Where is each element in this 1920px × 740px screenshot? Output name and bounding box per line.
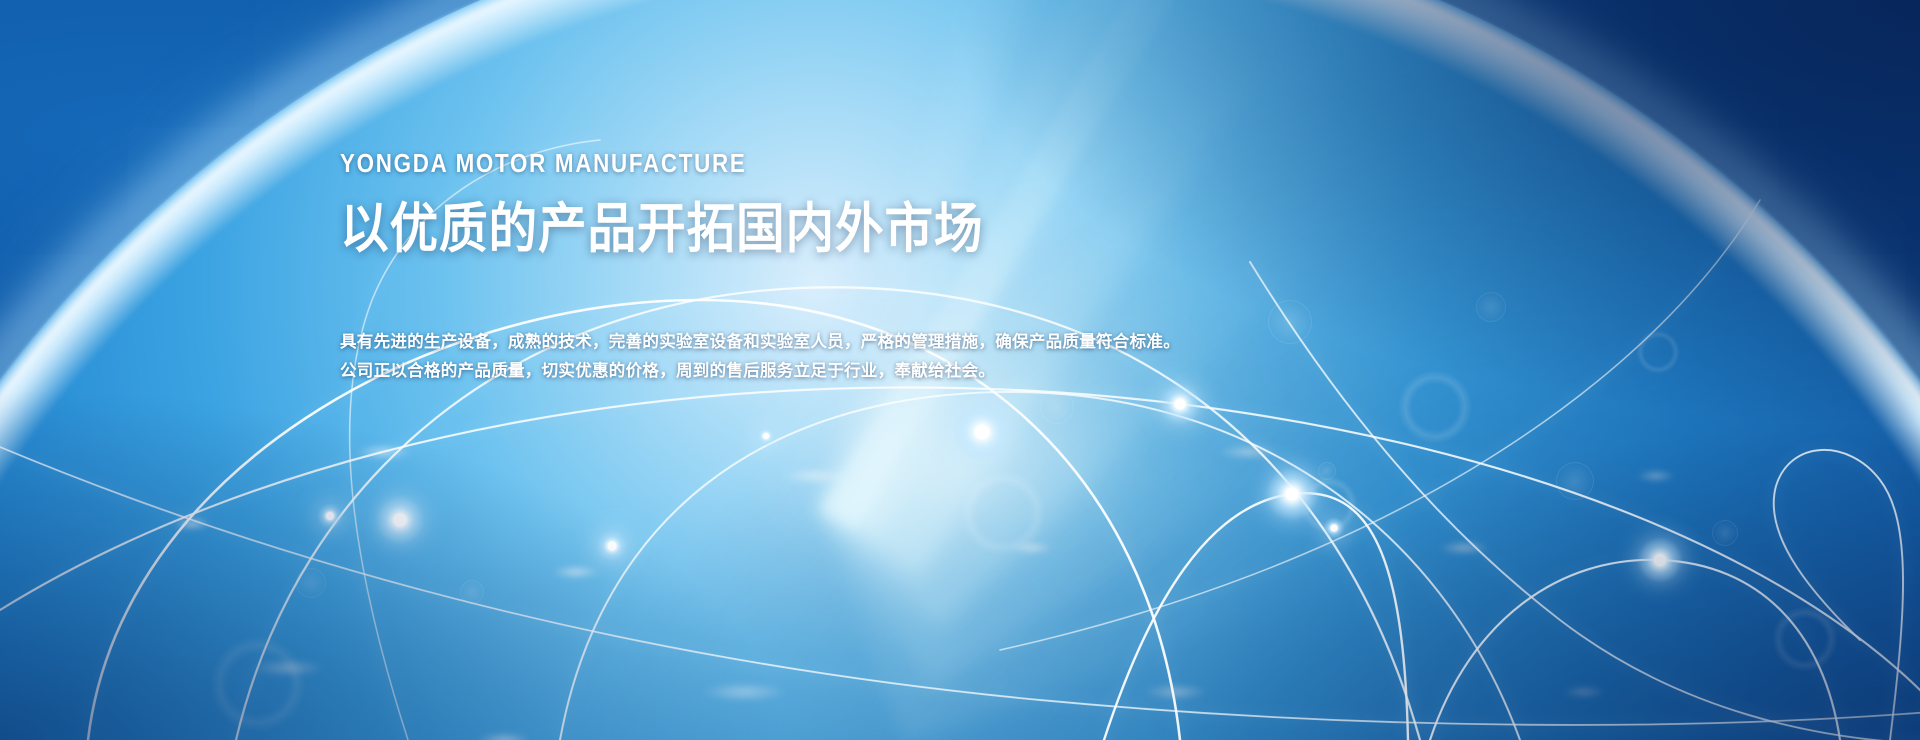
hero-text-block: YONGDA MOTOR MANUFACTURE 以优质的产品开拓国内外市场 具… [340,150,1540,386]
description-line: 具有先进的生产设备，成熟的技术，完善的实验室设备和实验室人员，严格的管理措施，确… [340,328,1540,357]
hero-banner: YONGDA MOTOR MANUFACTURE 以优质的产品开拓国内外市场 具… [0,0,1920,740]
hero-description: 具有先进的生产设备，成熟的技术，完善的实验室设备和实验室人员，严格的管理措施，确… [340,328,1540,386]
company-name-eyebrow: YONGDA MOTOR MANUFACTURE [340,150,1372,176]
description-line: 公司正以合格的产品质量，切实优惠的价格，周到的售后服务立足于行业，奉献给社会。 [340,357,1540,386]
hero-headline: 以优质的产品开拓国内外市场 [340,201,1420,258]
